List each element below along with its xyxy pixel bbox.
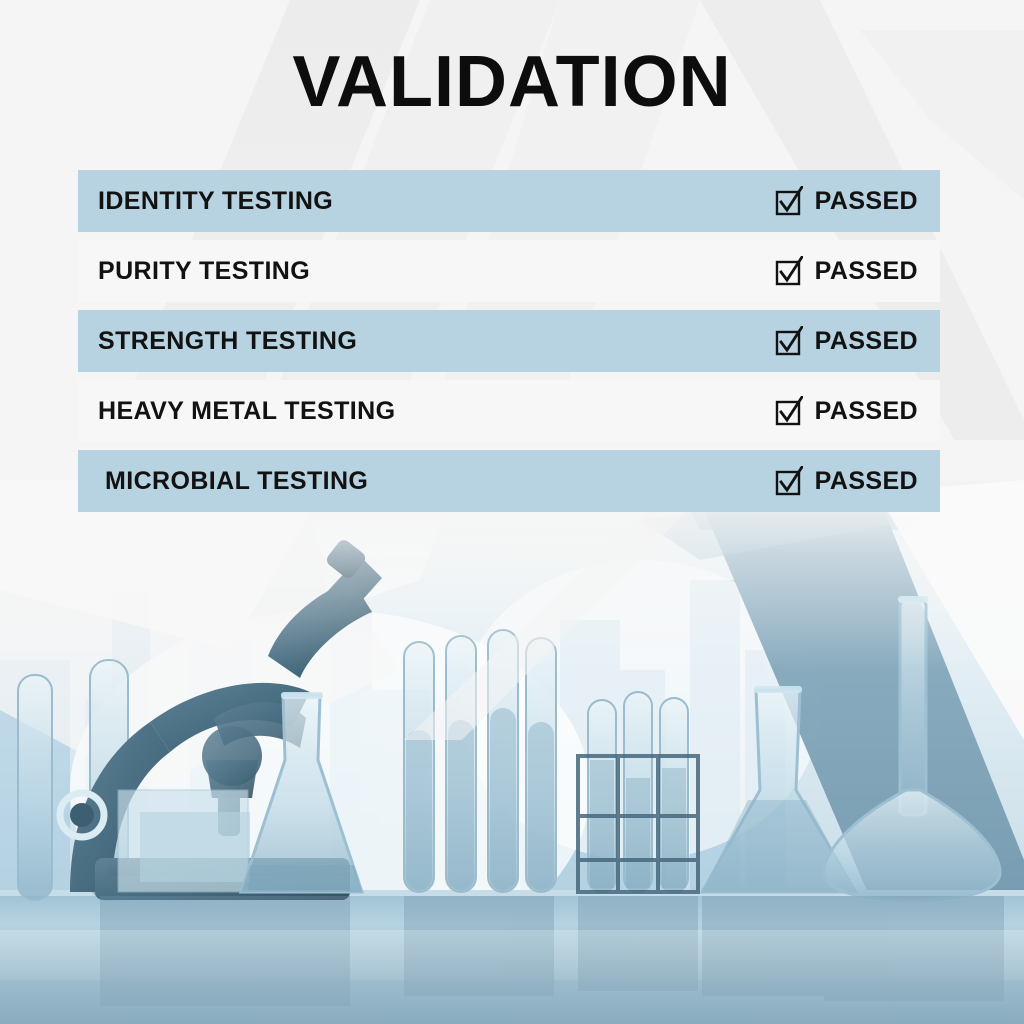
status-group: PASSED: [775, 240, 918, 302]
validation-row[interactable]: STRENGTH TESTING PASSED: [78, 310, 940, 372]
test-label: IDENTITY TESTING: [78, 187, 333, 216]
status-group: PASSED: [775, 450, 918, 512]
validation-list: IDENTITY TESTING PASSED PURITY TESTING P…: [78, 170, 940, 520]
checkbox-checked-icon[interactable]: [775, 256, 803, 286]
checkbox-checked-icon[interactable]: [775, 326, 803, 356]
checkbox-checked-icon[interactable]: [775, 396, 803, 426]
validation-row[interactable]: MICROBIAL TESTING PASSED: [78, 450, 940, 512]
status-text: PASSED: [815, 187, 918, 216]
page-title: VALIDATION: [0, 46, 1024, 118]
test-label: MICROBIAL TESTING: [78, 467, 368, 496]
status-text: PASSED: [815, 327, 918, 356]
checkbox-checked-icon[interactable]: [775, 186, 803, 216]
status-group: PASSED: [775, 310, 918, 372]
validation-row[interactable]: PURITY TESTING PASSED: [78, 240, 940, 302]
status-text: PASSED: [815, 397, 918, 426]
status-group: PASSED: [775, 380, 918, 442]
checkbox-checked-icon[interactable]: [775, 466, 803, 496]
status-text: PASSED: [815, 257, 918, 286]
status-text: PASSED: [815, 467, 918, 496]
validation-row[interactable]: IDENTITY TESTING PASSED: [78, 170, 940, 232]
test-label: STRENGTH TESTING: [78, 327, 357, 356]
status-group: PASSED: [775, 170, 918, 232]
poster-canvas: VALIDATION IDENTITY TESTING PASSED PURIT…: [0, 0, 1024, 1024]
test-label: HEAVY METAL TESTING: [78, 397, 395, 426]
validation-row[interactable]: HEAVY METAL TESTING PASSED: [78, 380, 940, 442]
test-label: PURITY TESTING: [78, 257, 310, 286]
